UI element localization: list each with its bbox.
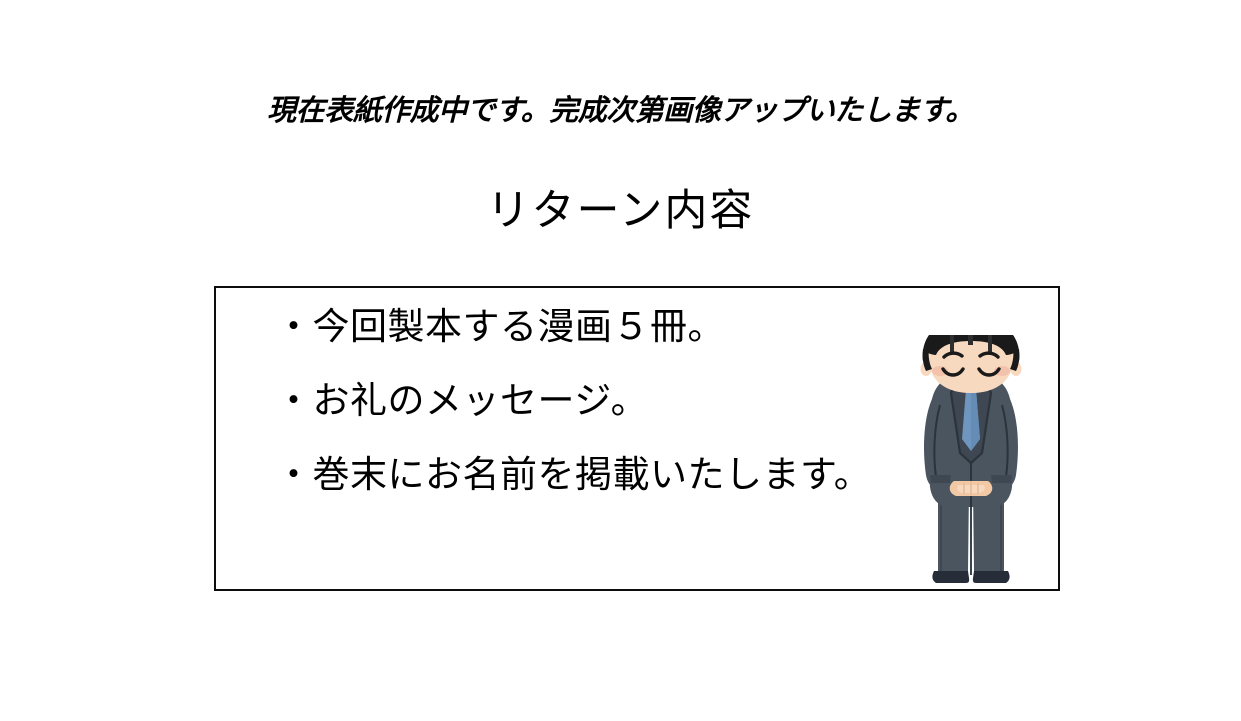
cover-status-notice: 現在表紙作成中です。完成次第画像アップいたします。 [0,92,1241,128]
return-contents-box: ・今回製本する漫画５冊。 ・お礼のメッセージ。 ・巻末にお名前を掲載いたします。 [214,286,1060,591]
right-arm [991,395,1018,489]
list-item: ・今回製本する漫画５冊。 [275,308,935,348]
return-contents-list: ・今回製本する漫画５冊。 ・お礼のメッセージ。 ・巻末にお名前を掲載いたします。 [275,308,935,496]
hair-strand-right [988,335,992,353]
right-cuff [991,475,1012,483]
hair-strand-center [968,335,973,345]
page-title: リターン内容 [0,186,1241,238]
left-shoe [932,571,969,583]
left-arm [924,395,951,489]
slide-page: 現在表紙作成中です。完成次第画像アップいたします。 リターン内容 ・今回製本する… [0,0,1241,721]
left-cuff [930,475,951,483]
hair-strand-left [950,335,954,353]
right-shoe [973,571,1010,583]
list-item: ・巻末にお名前を掲載いたします。 [275,456,935,496]
bowing-businessman-illustration [906,335,1036,591]
list-item: ・お礼のメッセージ。 [275,382,935,422]
